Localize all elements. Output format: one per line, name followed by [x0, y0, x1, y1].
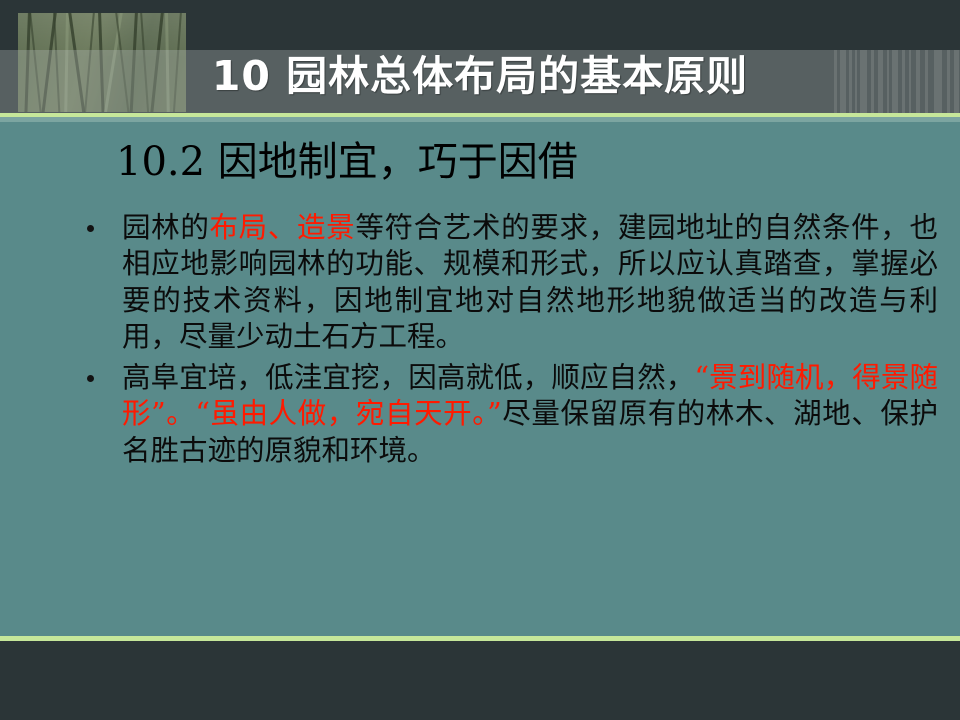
list-item: 园林的布局、造景等符合艺术的要求，建园地址的自然条件，也相应地影响园林的功能、规…: [78, 210, 938, 356]
slide-title: 10 园林总体布局的基本原则: [0, 55, 960, 98]
slide-body: 10.2 因地制宜，巧于因借 园林的布局、造景等符合艺术的要求，建园地址的自然条…: [0, 122, 960, 636]
bullet-segment: 高阜宜培，低洼宜挖，因高就低，顺应自然，: [122, 361, 694, 394]
bullet-text: 园林的布局、造景等符合艺术的要求，建园地址的自然条件，也相应地影响园林的功能、规…: [122, 210, 938, 356]
bullet-segment: 园林的: [122, 211, 210, 244]
slide-title-text: 园林总体布局的基本原则: [286, 52, 748, 100]
bullet-segment-highlight: 布局、造景: [210, 211, 356, 244]
bullet-dot-icon: [87, 225, 94, 232]
bullet-text: 高阜宜培，低洼宜挖，因高就低，顺应自然，“景到随机，得景随形”。“虽由人做，宛自…: [122, 360, 938, 469]
section-subtitle: 10.2 因地制宜，巧于因借: [116, 140, 578, 184]
bullet-dot-icon: [87, 375, 94, 382]
slide-canvas: 10 园林总体布局的基本原则 10.2 因地制宜，巧于因借 园林的布局、造景等符…: [0, 0, 960, 720]
bullet-list: 园林的布局、造景等符合艺术的要求，建园地址的自然条件，也相应地影响园林的功能、规…: [78, 210, 938, 473]
list-item: 高阜宜培，低洼宜挖，因高就低，顺应自然，“景到随机，得景随形”。“虽由人做，宛自…: [78, 360, 938, 469]
slide-footer: [0, 641, 960, 720]
slide-header: 10 园林总体布局的基本原则: [0, 0, 960, 113]
slide-title-number: 10: [212, 52, 271, 100]
